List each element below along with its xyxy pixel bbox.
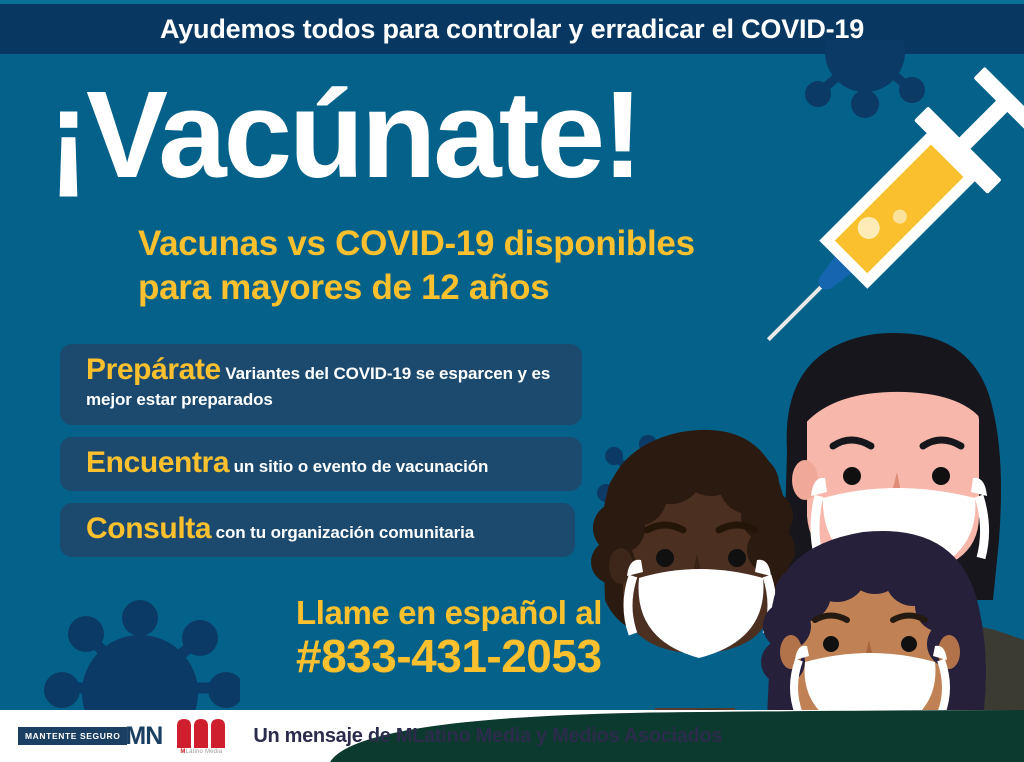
mlatino-mark-icon <box>175 718 227 748</box>
subtitle-line-1: Vacunas vs COVID-19 disponibles <box>138 222 695 266</box>
call-to-action: Llame en español al #833-431-2053 <box>296 596 602 682</box>
info-box-preparate: Prepárate Variantes del COVID-19 se espa… <box>60 344 582 425</box>
info-box-encuentra: Encuentra un sitio o evento de vacunació… <box>60 437 582 491</box>
info-box-heading: Prepárate <box>86 353 221 386</box>
mn-logo: MN <box>125 724 162 749</box>
banner-title: Ayudemos todos para controlar y erradica… <box>160 14 864 45</box>
subtitle: Vacunas vs COVID-19 disponibles para may… <box>138 222 695 310</box>
virus-icon-bottom-left <box>40 588 240 718</box>
mantente-seguro-badge: MANTENTE SEGURO <box>18 727 127 745</box>
info-box-text: un sitio o evento de vacunación <box>234 457 489 476</box>
footer-message: Un mensaje de MLatino Media y Medios Aso… <box>253 725 722 748</box>
cta-label: Llame en español al <box>296 596 602 631</box>
info-box-heading: Consulta <box>86 512 211 545</box>
poster-canvas: Ayudemos todos para controlar y erradica… <box>0 0 1024 762</box>
mlatino-logo: MLatino Media <box>175 718 227 755</box>
masked-people-illustration <box>575 300 1024 762</box>
footer-content: MANTENTE SEGURO MN MLatino Media Un mens… <box>0 710 1024 762</box>
info-box-consulta: Consulta con tu organización comunitaria <box>60 503 575 557</box>
page-title: ¡Vacúnate! <box>48 78 640 195</box>
mlatino-caption: MLatino Media <box>180 749 222 755</box>
cta-phone-number[interactable]: #833-431-2053 <box>296 631 602 683</box>
info-box-heading: Encuentra <box>86 446 229 479</box>
info-box-text: con tu organización comunitaria <box>216 523 475 542</box>
info-box-list: Prepárate Variantes del COVID-19 se espa… <box>60 344 582 569</box>
